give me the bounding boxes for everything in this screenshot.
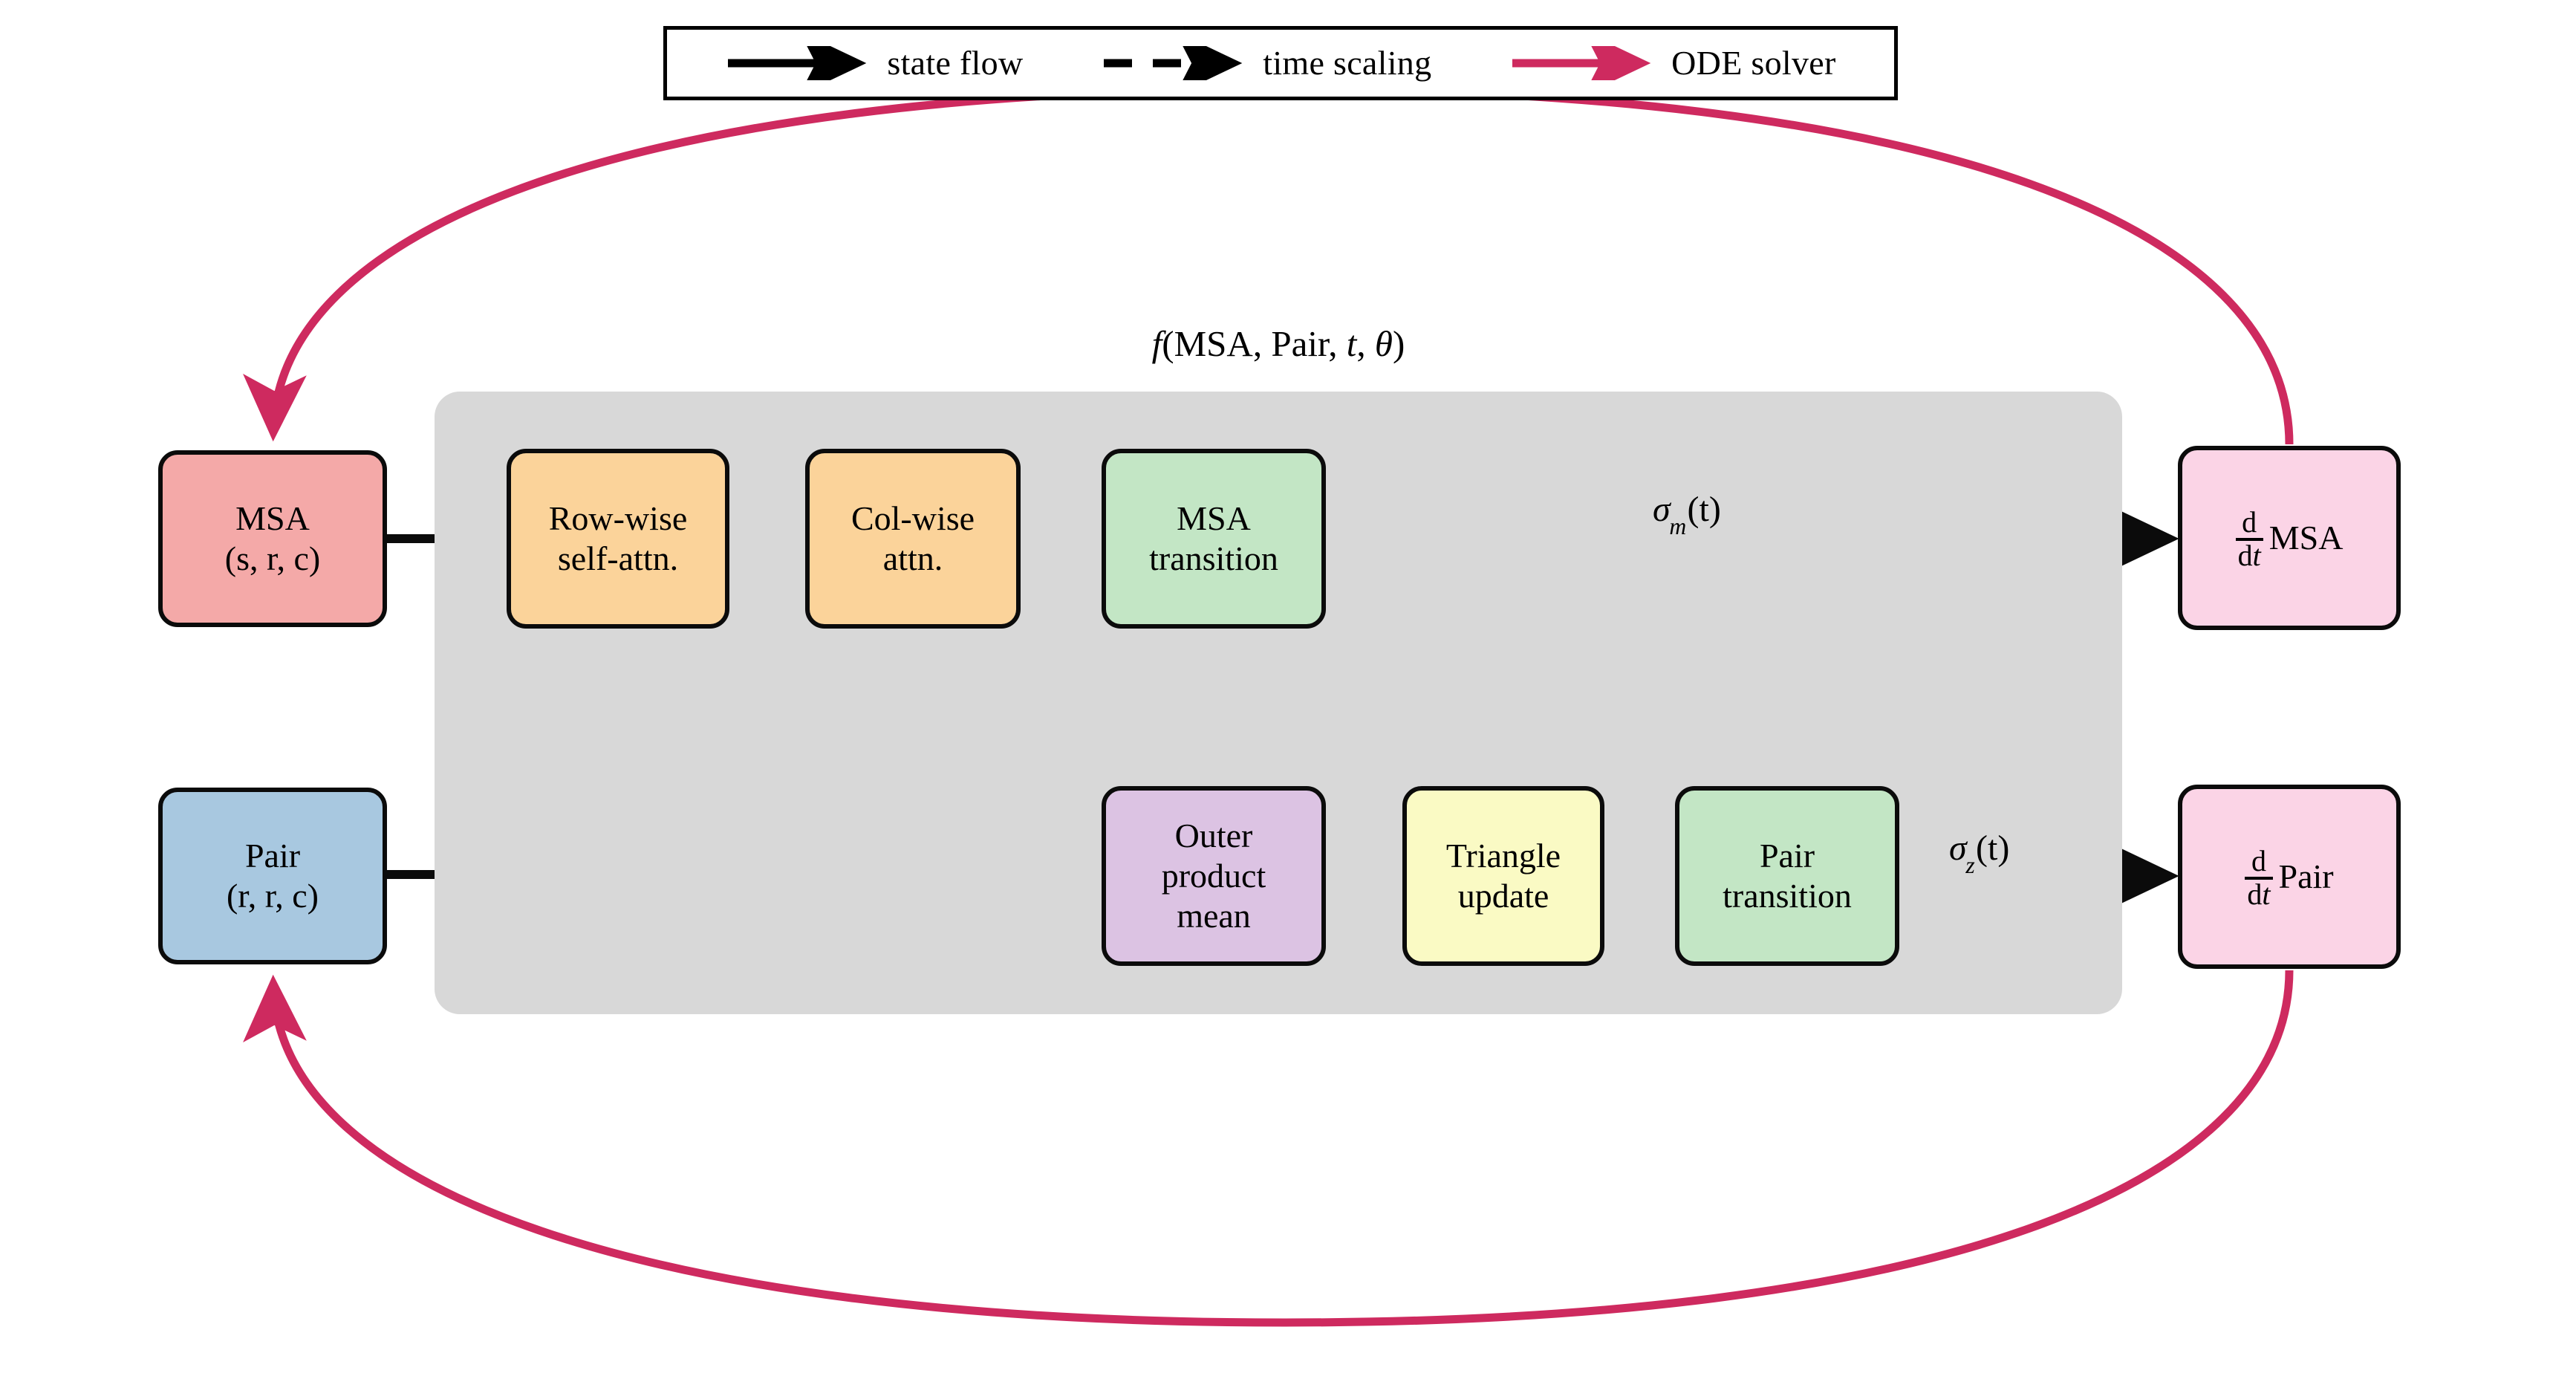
module-title-theta: θ	[1375, 323, 1393, 364]
node-row-wise-line2: self-attn.	[558, 539, 678, 579]
edge-label-sigma-z: σz(t)	[1949, 831, 2009, 872]
node-row-wise-self-attn[interactable]: Row-wise self-attn.	[507, 449, 729, 629]
node-col-wise-line2: attn.	[883, 539, 943, 579]
legend-label-ode-solver: ODE solver	[1671, 46, 1835, 80]
node-d-dt-pair-body: Pair	[2279, 857, 2334, 897]
node-msa-transition[interactable]: MSA transition	[1102, 449, 1326, 629]
d-dt-pair-denominator: dt	[2245, 877, 2272, 910]
module-title-f: f	[1152, 323, 1162, 364]
ode-arrow-icon	[1509, 46, 1658, 80]
node-d-dt-pair-expression: d dt Pair	[2245, 845, 2333, 909]
edge-label-sigma-m: σm(t)	[1653, 492, 1721, 533]
module-title-args: (MSA, Pair,	[1162, 323, 1347, 364]
module-title-t: t	[1347, 323, 1357, 364]
node-col-wise-line1: Col-wise	[851, 499, 975, 539]
legend-item-time-scaling: time scaling	[1101, 46, 1431, 80]
node-d-dt-msa-body: MSA	[2269, 518, 2344, 558]
node-outer-product-line3: mean	[1177, 896, 1251, 936]
node-pair-input-line1: Pair	[245, 836, 300, 876]
node-msa-input-line1: MSA	[235, 499, 310, 539]
d-dt-pair-numerator: d	[2249, 846, 2268, 877]
node-outer-product-line2: product	[1162, 856, 1266, 896]
node-col-wise-attn[interactable]: Col-wise attn.	[805, 449, 1021, 629]
sigma-m-symbol: σ	[1653, 490, 1671, 529]
node-pair-transition-line1: Pair	[1760, 836, 1815, 876]
node-d-dt-pair[interactable]: d dt Pair	[2178, 785, 2401, 969]
sigma-z-subscript: z	[1965, 852, 1974, 878]
node-triangle-update-line2: update	[1458, 876, 1549, 916]
legend-item-state-flow: state flow	[725, 46, 1023, 80]
node-d-dt-msa[interactable]: d dt MSA	[2178, 446, 2401, 630]
module-title-comma: ,	[1356, 323, 1375, 364]
sigma-z-arg: (t)	[1976, 828, 2009, 868]
sigma-z-symbol: σ	[1949, 828, 1967, 868]
dashed-arrow-icon	[1101, 46, 1249, 80]
node-msa-input[interactable]: MSA (s, r, c)	[158, 450, 387, 627]
sigma-m-subscript: m	[1669, 513, 1686, 539]
d-dt-msa-numerator: d	[2240, 507, 2259, 538]
node-triangle-update-line1: Triangle	[1446, 836, 1561, 876]
node-outer-product-line1: Outer	[1175, 816, 1253, 856]
solid-arrow-icon	[725, 46, 874, 80]
legend: state flow time scaling	[663, 26, 1898, 100]
d-dt-fraction-pair: d dt	[2245, 846, 2272, 910]
node-msa-transition-line2: transition	[1149, 539, 1278, 579]
node-msa-input-line2: (s, r, c)	[225, 539, 320, 579]
module-title: f(MSA, Pair, t, θ)	[435, 325, 2122, 362]
node-d-dt-msa-expression: d dt MSA	[2236, 506, 2344, 570]
node-row-wise-line1: Row-wise	[549, 499, 688, 539]
edge-ode-solver-pair	[273, 970, 2289, 1323]
node-pair-input[interactable]: Pair (r, r, c)	[158, 788, 387, 964]
module-title-close: )	[1393, 323, 1405, 364]
node-pair-transition[interactable]: Pair transition	[1675, 786, 1899, 966]
diagram-canvas: d/dt MSA --> d/dt Pair --> state flow	[0, 0, 2576, 1379]
legend-label-state-flow: state flow	[887, 46, 1023, 80]
node-msa-transition-line1: MSA	[1177, 499, 1251, 539]
d-dt-msa-denominator: dt	[2236, 538, 2263, 571]
d-dt-fraction-msa: d dt	[2236, 507, 2263, 571]
node-triangle-update[interactable]: Triangle update	[1402, 786, 1604, 966]
node-outer-product-mean[interactable]: Outer product mean	[1102, 786, 1326, 966]
sigma-m-arg: (t)	[1688, 490, 1721, 529]
legend-label-time-scaling: time scaling	[1263, 46, 1431, 80]
legend-item-ode-solver: ODE solver	[1509, 46, 1835, 80]
node-pair-input-line2: (r, r, c)	[227, 876, 319, 916]
node-pair-transition-line2: transition	[1723, 876, 1852, 916]
